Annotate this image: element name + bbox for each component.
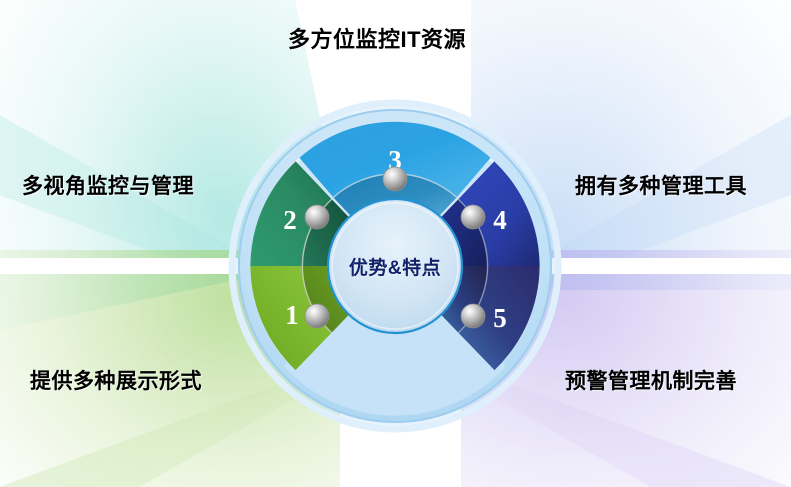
donut-node-1-sphere-node[interactable] [305,304,329,328]
donut-segment-1-number: 1 [285,300,299,330]
label-right-lower: 预警管理机制完善 [565,365,737,395]
label-left-lower: 提供多种展示形式 [30,365,202,395]
donut-node-2-sphere-node[interactable] [305,205,329,229]
donut-node-3-sphere-node[interactable] [383,167,407,191]
donut-segment-4-number: 4 [493,205,507,235]
label-right-upper: 拥有多种管理工具 [575,170,747,200]
donut-segment-5-number: 5 [493,303,507,333]
donut-node-4-sphere-node[interactable] [461,205,485,229]
label-top: 多方位监控IT资源 [288,22,466,54]
infographic-canvas: 1 2 3 [0,0,791,487]
label-left-upper: 多视角监控与管理 [22,170,194,200]
donut-node-5-sphere-node[interactable] [461,304,485,328]
donut-segment-2-number: 2 [283,205,297,235]
center-label: 优势&特点 [334,253,456,280]
